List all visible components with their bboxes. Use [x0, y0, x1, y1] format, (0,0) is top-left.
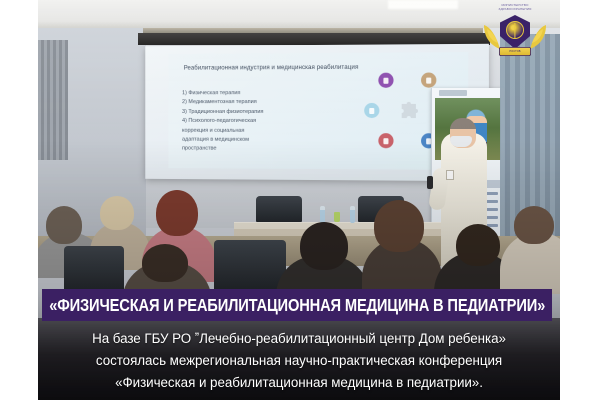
- caption-line-3: «Физическая и реабилитационная медицина …: [115, 372, 483, 394]
- slide-item: коррекция и социальная: [182, 126, 345, 136]
- attendee-head: [300, 222, 348, 270]
- ministry-health-emblem: МИНИСТЕРСТВО ЗДРАВООХРАНЕНИЯ РОСТОВ: [476, 3, 554, 65]
- slide-item: пространстве: [182, 145, 345, 155]
- attendee-head: [100, 196, 134, 230]
- rollup-logo: [439, 90, 467, 96]
- slide-item: 3) Традиционная физиотерапия: [182, 108, 345, 117]
- slide-icon-lightbulb: [364, 103, 379, 118]
- attendee-head: [374, 200, 424, 252]
- screenshot-root: Реабилитационная индустрия и медицинская…: [0, 0, 600, 400]
- microphone: [427, 176, 433, 189]
- presentation-slide: Реабилитационная индустрия и медицинская…: [168, 52, 468, 170]
- water-bottle: [320, 206, 325, 223]
- speaker-face-mask: [450, 136, 472, 147]
- attendee-head: [142, 244, 188, 282]
- ceiling-light: [388, 0, 458, 9]
- attendee-head: [456, 224, 500, 266]
- banner-title: «ФИЗИЧЕСКАЯ И РЕАБИЛИТАЦИОННАЯ МЕДИЦИНА …: [49, 295, 545, 316]
- water-bottle: [350, 206, 355, 223]
- slide-item: адаптация в медицинском: [182, 136, 345, 146]
- caption-line-2: состоялась межрегиональная научно-практи…: [96, 350, 502, 372]
- left-margin: [0, 0, 38, 400]
- slide-title: Реабилитационная индустрия и медицинская…: [182, 63, 360, 73]
- emblem-globe-serpent-icon: [506, 21, 524, 39]
- emblem-banner: РОСТОВ: [499, 47, 531, 56]
- speaker-badge: [446, 170, 454, 180]
- slide-icon-heart: [378, 133, 393, 148]
- attendee-head: [46, 206, 82, 244]
- right-margin: [560, 0, 600, 400]
- radiator: [38, 40, 68, 160]
- slide-icon-briefcase: [378, 73, 393, 88]
- puzzle-piece-icon: [399, 101, 421, 119]
- caption-line-1: На базе ГБУ РО ˮЛечебно-реабилитационный…: [92, 328, 506, 350]
- table-chair: [256, 196, 302, 222]
- attendee-head: [514, 206, 554, 244]
- drinking-cup: [334, 212, 340, 222]
- slide-icon-book: [421, 72, 436, 87]
- slide-item: 1) Физическая терапия: [182, 89, 345, 99]
- slide-item: 4) Психолого-педагогическая: [182, 117, 345, 127]
- audience-chair: [214, 240, 286, 290]
- attendee-head: [156, 190, 198, 236]
- title-banner: «ФИЗИЧЕСКАЯ И РЕАБИЛИТАЦИОННАЯ МЕДИЦИНА …: [42, 289, 552, 321]
- audience-chair: [64, 246, 124, 292]
- emblem-banner-text: РОСТОВ: [499, 47, 531, 56]
- slide-body: 1) Физическая терапия 2) Медикаментозная…: [182, 89, 345, 155]
- slide-item: 2) Медикаментозная терапия: [182, 98, 345, 108]
- caption-block: На базе ГБУ РО ˮЛечебно-реабилитационный…: [38, 325, 560, 400]
